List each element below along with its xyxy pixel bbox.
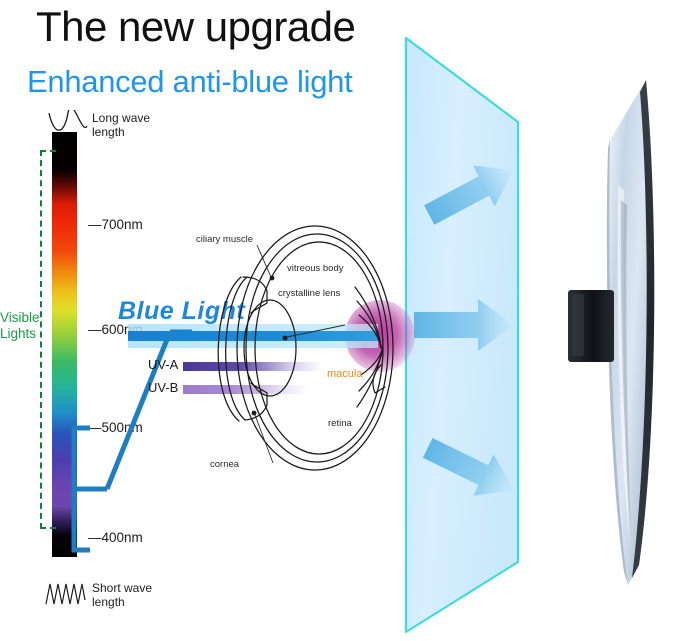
short-wavelength-label: Short wave length [92,582,152,609]
eye-label-retina: retina [328,418,352,429]
short-wavelength-icon [44,580,90,608]
illustration-root: The new upgrade Enhanced anti-blue light… [0,0,679,641]
uv-b-label: UV-B [148,380,178,395]
eye-label-ciliary-muscle: ciliary muscle [196,234,253,245]
visible-lights-bracket [40,150,56,529]
page-title: The new upgrade [36,4,355,50]
eye-label-vitreous-body: vitreous body [287,263,344,274]
tick-label-700nm: —700nm [88,217,143,232]
visible-lights-label: Visible Lights [0,310,42,342]
page-subtitle: Enhanced anti-blue light [27,64,352,100]
eye-anatomy-diagram [195,215,425,485]
uv-a-label: UV-A [148,357,178,372]
curved-monitor [396,0,679,641]
filter-and-monitor-scene [396,0,679,641]
long-wavelength-label: Long wave length [92,112,150,139]
eye-label-macula: macula [327,368,362,380]
eye-label-cornea: cornea [210,459,239,470]
eye-label-crystalline-lens: crystalline lens [278,288,340,299]
